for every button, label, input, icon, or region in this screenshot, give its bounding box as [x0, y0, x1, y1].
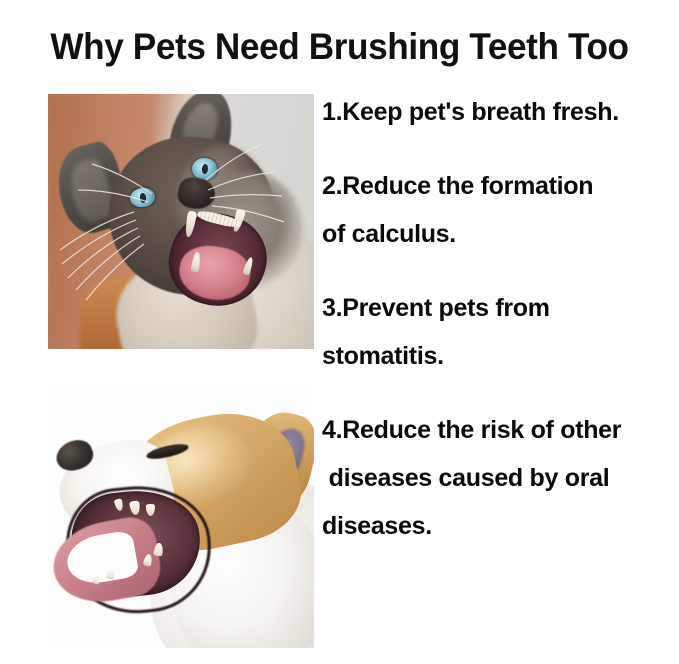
cat-photo: Close-up of a seal-point Siamese cat his…	[48, 94, 314, 349]
reason-item-2: 2.Reduce the formation of calculus.	[322, 162, 679, 258]
reasons-list: 1.Keep pet's breath fresh. 2.Reduce the …	[322, 88, 679, 550]
reason-item-4: 4.Reduce the risk of other diseases caus…	[322, 406, 679, 550]
photo-column: Close-up of a seal-point Siamese cat his…	[8, 78, 274, 664]
content-area: Close-up of a seal-point Siamese cat his…	[0, 70, 679, 630]
dog-photo: Profile of a tan and white corgi-type do…	[48, 386, 314, 648]
cat-left-pupil	[140, 193, 147, 203]
reason-item-3: 3.Prevent pets from stomatitis.	[322, 284, 679, 380]
reason-item-1: 1.Keep pet's breath fresh.	[322, 88, 679, 136]
page-title: Why Pets Need Brushing Teeth Too	[17, 25, 662, 69]
cat-right-pupil	[201, 164, 209, 175]
